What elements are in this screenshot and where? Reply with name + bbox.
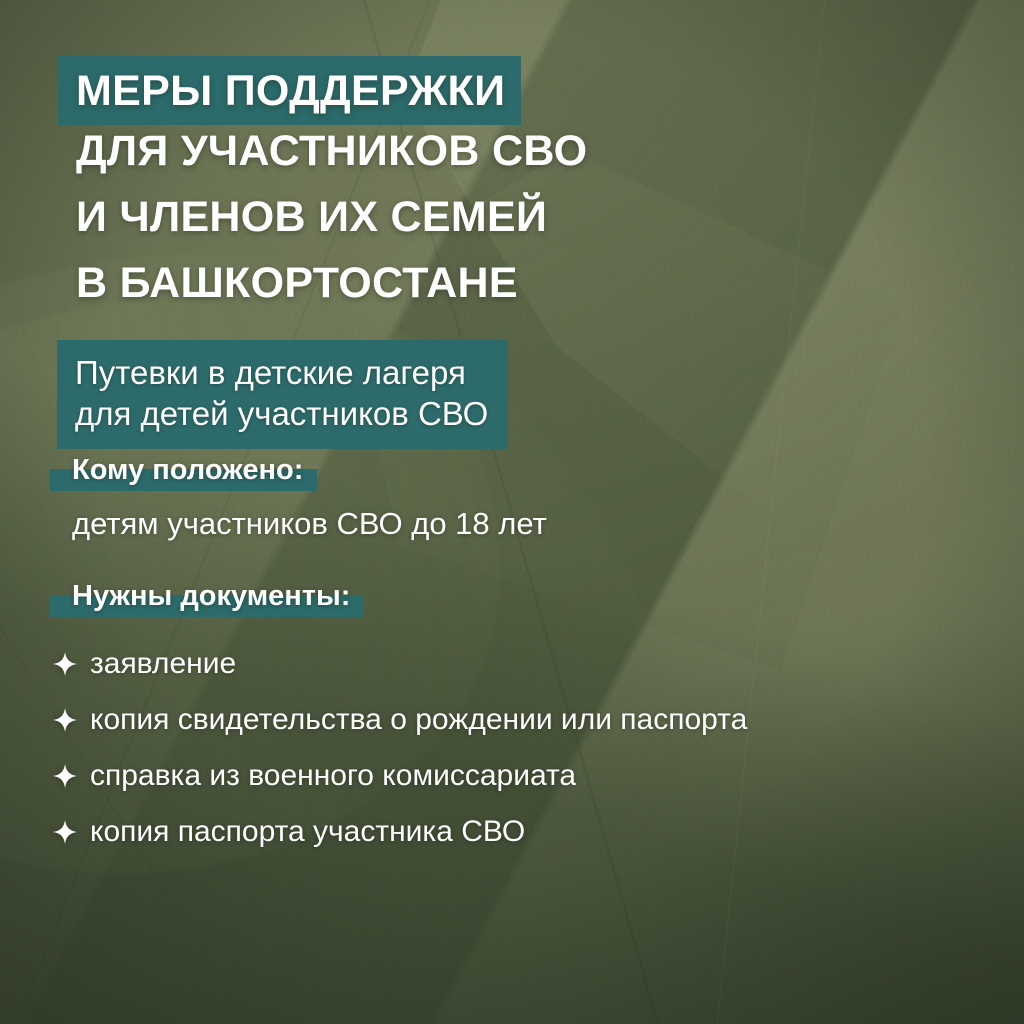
list-item-label: справка из военного комиссариата: [90, 759, 576, 793]
infographic-poster: МЕРЫ ПОДДЕРЖКИ ДЛЯ УЧАСТНИКОВ СВО И ЧЛЕН…: [0, 0, 1024, 1024]
four-pointed-star-icon: [53, 652, 77, 676]
list-item-label: копия свидетельства о рождении или паспо…: [90, 703, 747, 737]
list-item-label: заявление: [90, 647, 236, 681]
title-line-2: ДЛЯ УЧАСТНИКОВ СВО: [58, 130, 587, 173]
subtitle-line-2: для детей участников СВО: [75, 394, 488, 435]
title-line-3: И ЧЛЕНОВ ИХ СЕМЕЙ: [58, 196, 547, 239]
list-item: копия паспорта участника СВО: [53, 804, 747, 860]
list-item: копия свидетельства о рождении или паспо…: [53, 692, 747, 748]
title-line-4: В БАШКОРТОСТАНЕ: [58, 262, 518, 305]
documents-section: Нужны документы:: [0, 578, 350, 617]
subtitle-banner: Путевки в детские лагеря для детей участ…: [57, 340, 508, 449]
four-pointed-star-icon: [53, 708, 77, 732]
eligibility-section: Кому положено: детям участников СВО до 1…: [0, 452, 547, 542]
documents-heading: Нужны документы:: [72, 578, 350, 617]
documents-heading-label: Нужны документы:: [72, 580, 350, 612]
eligibility-body: детям участников СВО до 18 лет: [72, 505, 547, 542]
list-item: справка из военного комиссариата: [53, 748, 747, 804]
four-pointed-star-icon: [53, 820, 77, 844]
four-pointed-star-icon: [53, 764, 77, 788]
eligibility-heading-label: Кому положено:: [72, 454, 303, 486]
documents-list: заявление копия свидетельства о рождении…: [0, 636, 747, 860]
subtitle-line-1: Путевки в детские лагеря: [75, 353, 488, 394]
eligibility-heading: Кому положено:: [72, 452, 303, 491]
list-item-label: копия паспорта участника СВО: [90, 815, 525, 849]
poster-content: МЕРЫ ПОДДЕРЖКИ ДЛЯ УЧАСТНИКОВ СВО И ЧЛЕН…: [0, 0, 1024, 1024]
title-line-1: МЕРЫ ПОДДЕРЖКИ: [58, 56, 521, 125]
list-item: заявление: [53, 636, 747, 692]
